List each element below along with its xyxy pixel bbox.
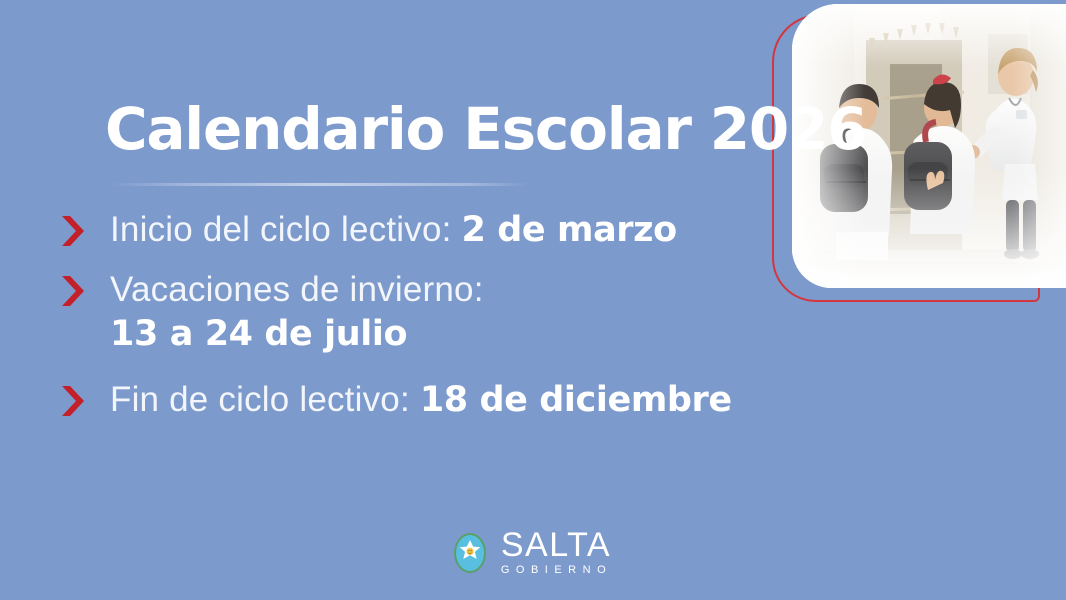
list-item-value: 18 de diciembre — [420, 380, 732, 420]
list-item-text: Inicio del ciclo lectivo: 2 de marzo — [110, 208, 800, 252]
student-right-figure — [904, 74, 975, 234]
list-item-text: Fin de ciclo lectivo: 18 de diciembre — [110, 378, 800, 422]
salta-gobierno-logo: SALTA GOBIERNO — [0, 528, 1066, 578]
page-title: Calendario Escolar 2026 — [105, 96, 866, 162]
teacher-figure — [964, 48, 1039, 259]
list-item: Fin de ciclo lectivo: 18 de diciembre — [60, 378, 800, 422]
list-item-label: Fin de ciclo lectivo: — [110, 380, 410, 419]
logo-wordmark: SALTA GOBIERNO — [501, 528, 613, 578]
salta-shield-icon — [453, 532, 487, 574]
chevron-right-icon — [60, 214, 86, 248]
chevron-right-icon — [60, 274, 86, 308]
list-item-value: 2 de marzo — [461, 210, 676, 250]
list-item-text: Vacaciones de invierno: 13 a 24 de julio — [110, 268, 800, 356]
photo-area — [766, 0, 1066, 340]
logo-subtitle: GOBIERNO — [501, 562, 613, 578]
list-item-value: 13 a 24 de julio — [110, 312, 800, 356]
list-item: Inicio del ciclo lectivo: 2 de marzo — [60, 208, 800, 252]
chevron-right-icon — [60, 384, 86, 418]
list-item-label: Inicio del ciclo lectivo: — [110, 210, 452, 249]
content-column: Calendario Escolar 2026 Inicio del ciclo… — [0, 0, 800, 600]
logo-name: SALTA — [501, 528, 613, 562]
list-item: Vacaciones de invierno: 13 a 24 de julio — [60, 268, 800, 356]
poster-canvas: Calendario Escolar 2026 Inicio del ciclo… — [0, 0, 1066, 600]
list-item-label: Vacaciones de invierno: — [110, 270, 484, 309]
title-divider — [110, 183, 530, 186]
key-dates-list: Inicio del ciclo lectivo: 2 de marzo Vac… — [60, 208, 800, 422]
